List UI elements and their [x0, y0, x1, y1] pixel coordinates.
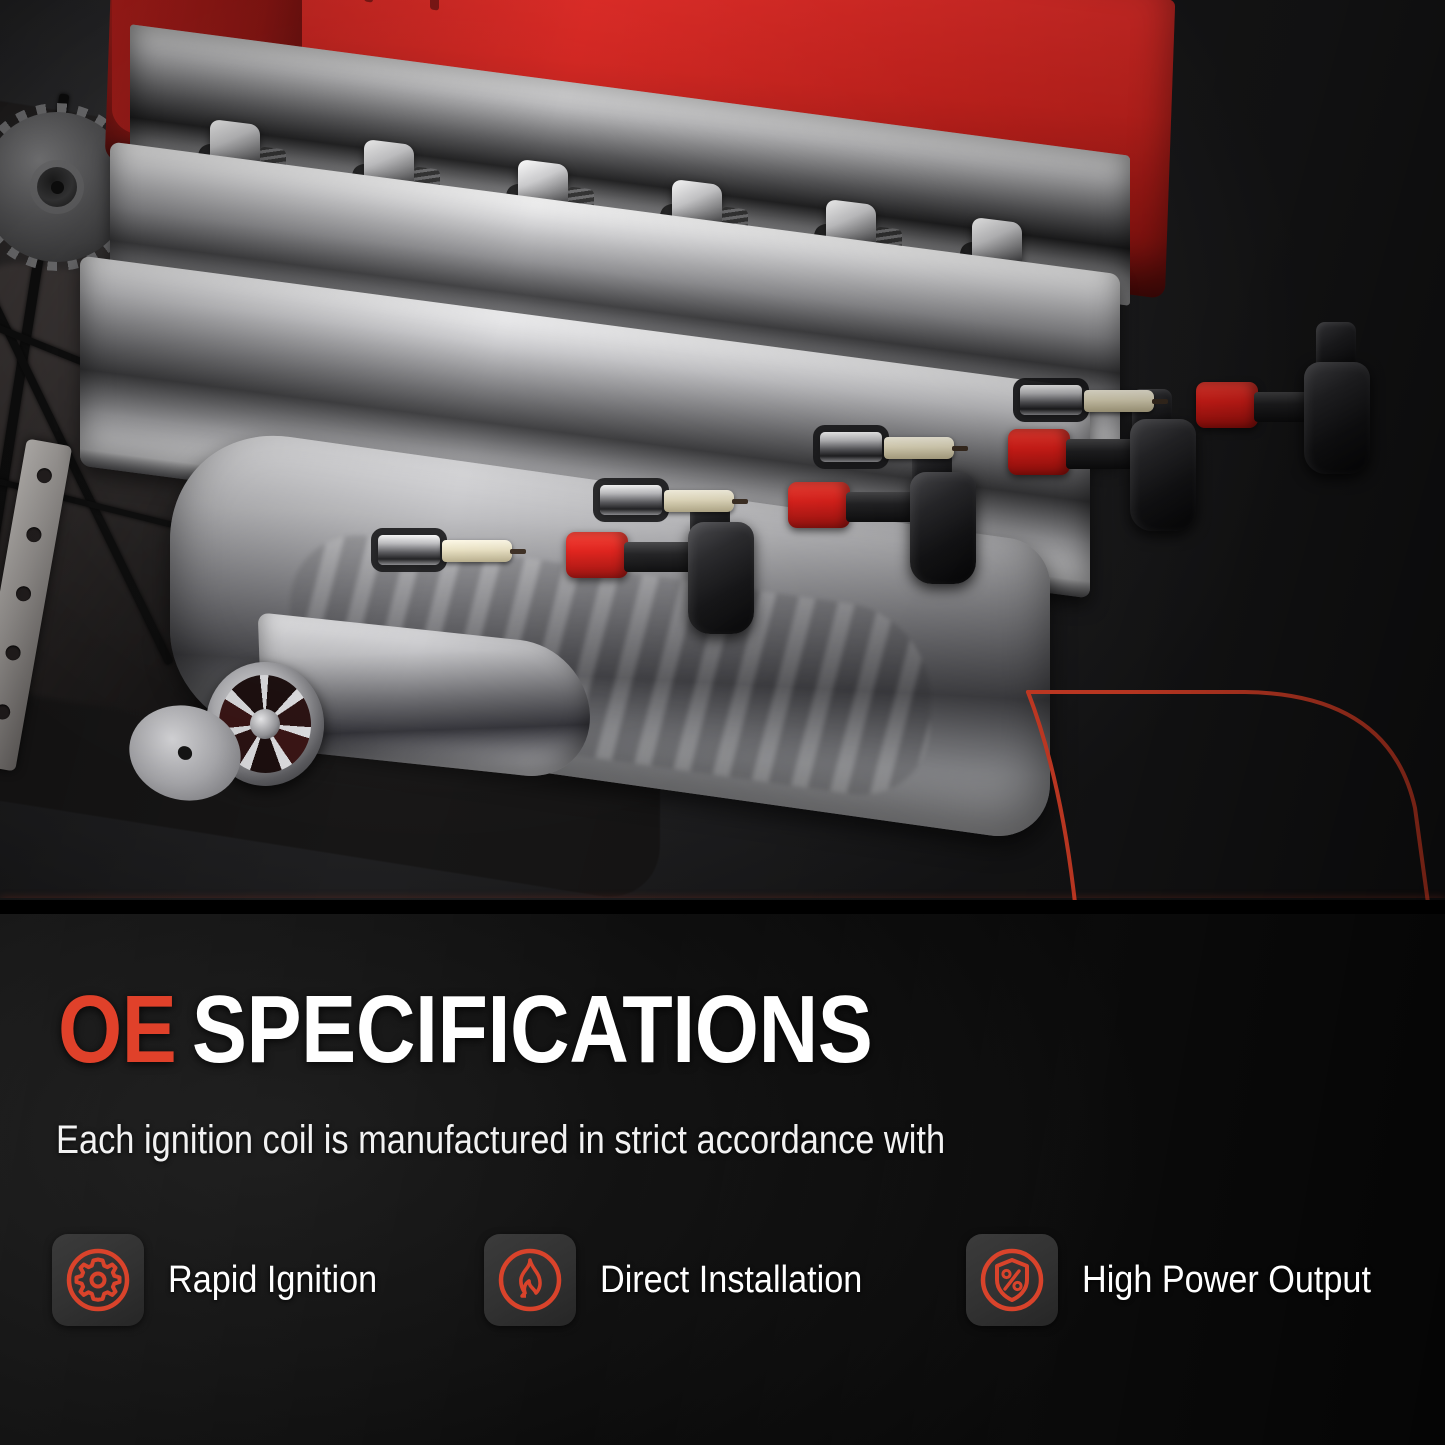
headline-rest: SPECIFICATIONS: [192, 976, 873, 1083]
feature-badge-high-power-output: High Power Output: [966, 1234, 1406, 1326]
feature-label: High Power Output: [1082, 1259, 1371, 1302]
subtitle: Each ignition coil is manufactured in st…: [56, 1118, 945, 1163]
gear-icon: [52, 1234, 144, 1326]
feature-badge-direct-installation: Direct Installation: [484, 1234, 966, 1326]
feature-label: Rapid Ignition: [168, 1259, 377, 1302]
page-title: OESPECIFICATIONS: [58, 982, 872, 1078]
feature-label: Direct Installation: [600, 1259, 862, 1302]
accent-divider: [0, 898, 1445, 914]
product-marketing-image: OESPECIFICATIONS Each ignition coil is m…: [0, 0, 1445, 1445]
flame-icon: [484, 1234, 576, 1326]
shield-percent-icon: [966, 1234, 1058, 1326]
headline-highlight: OE: [58, 976, 176, 1083]
feature-badge-row: Rapid Ignition Direct Installation: [52, 1234, 1412, 1326]
feature-badge-rapid-ignition: Rapid Ignition: [52, 1234, 484, 1326]
hero-engine-image: [0, 0, 1445, 900]
